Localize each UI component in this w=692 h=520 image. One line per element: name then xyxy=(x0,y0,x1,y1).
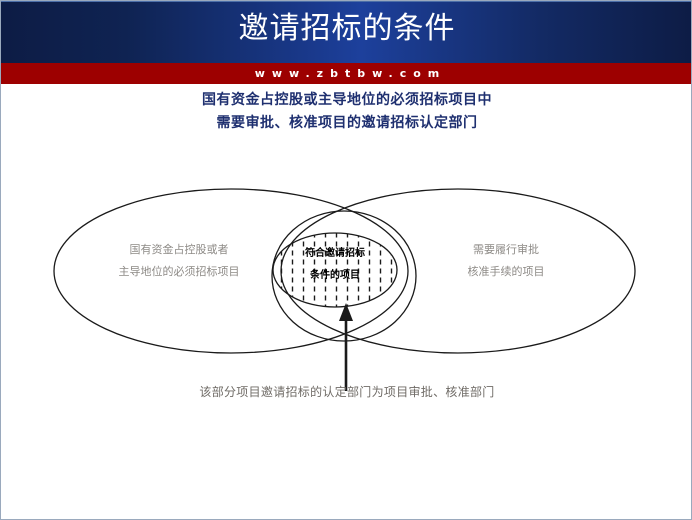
right-set-label: 需要履行审批 核准手续的项目 xyxy=(413,239,599,283)
page-title: 邀请招标的条件 xyxy=(1,7,692,51)
website-url-text: www.zbtbw.com xyxy=(1,63,692,84)
left-set-label: 国有资金占控股或者 主导地位的必须招标项目 xyxy=(79,239,279,283)
right-set-label-line-2: 核准手续的项目 xyxy=(413,261,599,283)
left-set-label-line-1: 国有资金占控股或者 xyxy=(79,239,279,261)
intersection-label-line-2: 条件的项目 xyxy=(273,265,397,287)
diagram-caption: 该部分项目邀请招标的认定部门为项目审批、核准部门 xyxy=(1,383,692,400)
subtitle-block: 国有资金占控股或主导地位的必须招标项目中 需要审批、核准项目的邀请招标认定部门 xyxy=(1,89,692,135)
subtitle-line-1: 国有资金占控股或主导地位的必须招标项目中 xyxy=(1,89,692,112)
subtitle-line-2: 需要审批、核准项目的邀请招标认定部门 xyxy=(1,112,692,135)
left-set-label-line-2: 主导地位的必须招标项目 xyxy=(79,261,279,283)
intersection-label-line-1: 符合邀请招标 xyxy=(273,243,397,265)
venn-diagram: 国有资金占控股或者 主导地位的必须招标项目 需要履行审批 核准手续的项目 符合邀… xyxy=(1,151,692,411)
url-banner-band: www.zbtbw.com xyxy=(1,63,692,84)
slide: 邀请招标的条件 www.zbtbw.com 国有资金占控股或主导地位的必须招标项… xyxy=(0,0,692,520)
intersection-label: 符合邀请招标 条件的项目 xyxy=(273,243,397,287)
right-set-label-line-1: 需要履行审批 xyxy=(413,239,599,261)
